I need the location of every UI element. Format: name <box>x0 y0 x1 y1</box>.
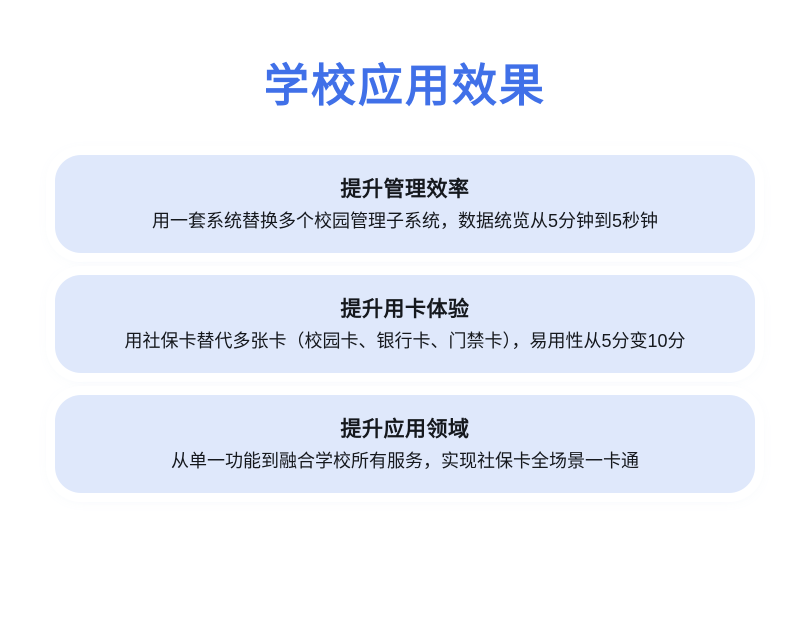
benefit-card-list: 提升管理效率 用一套系统替换多个校园管理子系统，数据统览从5分钟到5秒钟 提升用… <box>55 155 755 493</box>
benefit-card-body: 用一套系统替换多个校园管理子系统，数据统览从5分钟到5秒钟 <box>152 208 658 234</box>
benefit-card-heading: 提升应用领域 <box>341 415 470 445</box>
benefit-card-heading: 提升管理效率 <box>341 175 470 205</box>
benefit-card-heading: 提升用卡体验 <box>341 295 470 325</box>
page-title: 学校应用效果 <box>0 58 810 114</box>
benefit-card[interactable]: 提升应用领域 从单一功能到融合学校所有服务，实现社保卡全场景一卡通 <box>55 395 755 493</box>
benefit-card[interactable]: 提升用卡体验 用社保卡替代多张卡（校园卡、银行卡、门禁卡），易用性从5分变10分 <box>55 275 755 373</box>
benefit-card[interactable]: 提升管理效率 用一套系统替换多个校园管理子系统，数据统览从5分钟到5秒钟 <box>55 155 755 253</box>
poster-page: 学校应用效果 提升管理效率 用一套系统替换多个校园管理子系统，数据统览从5分钟到… <box>0 0 810 622</box>
benefit-card-body: 从单一功能到融合学校所有服务，实现社保卡全场景一卡通 <box>171 448 639 474</box>
benefit-card-body: 用社保卡替代多张卡（校园卡、银行卡、门禁卡），易用性从5分变10分 <box>124 328 685 354</box>
